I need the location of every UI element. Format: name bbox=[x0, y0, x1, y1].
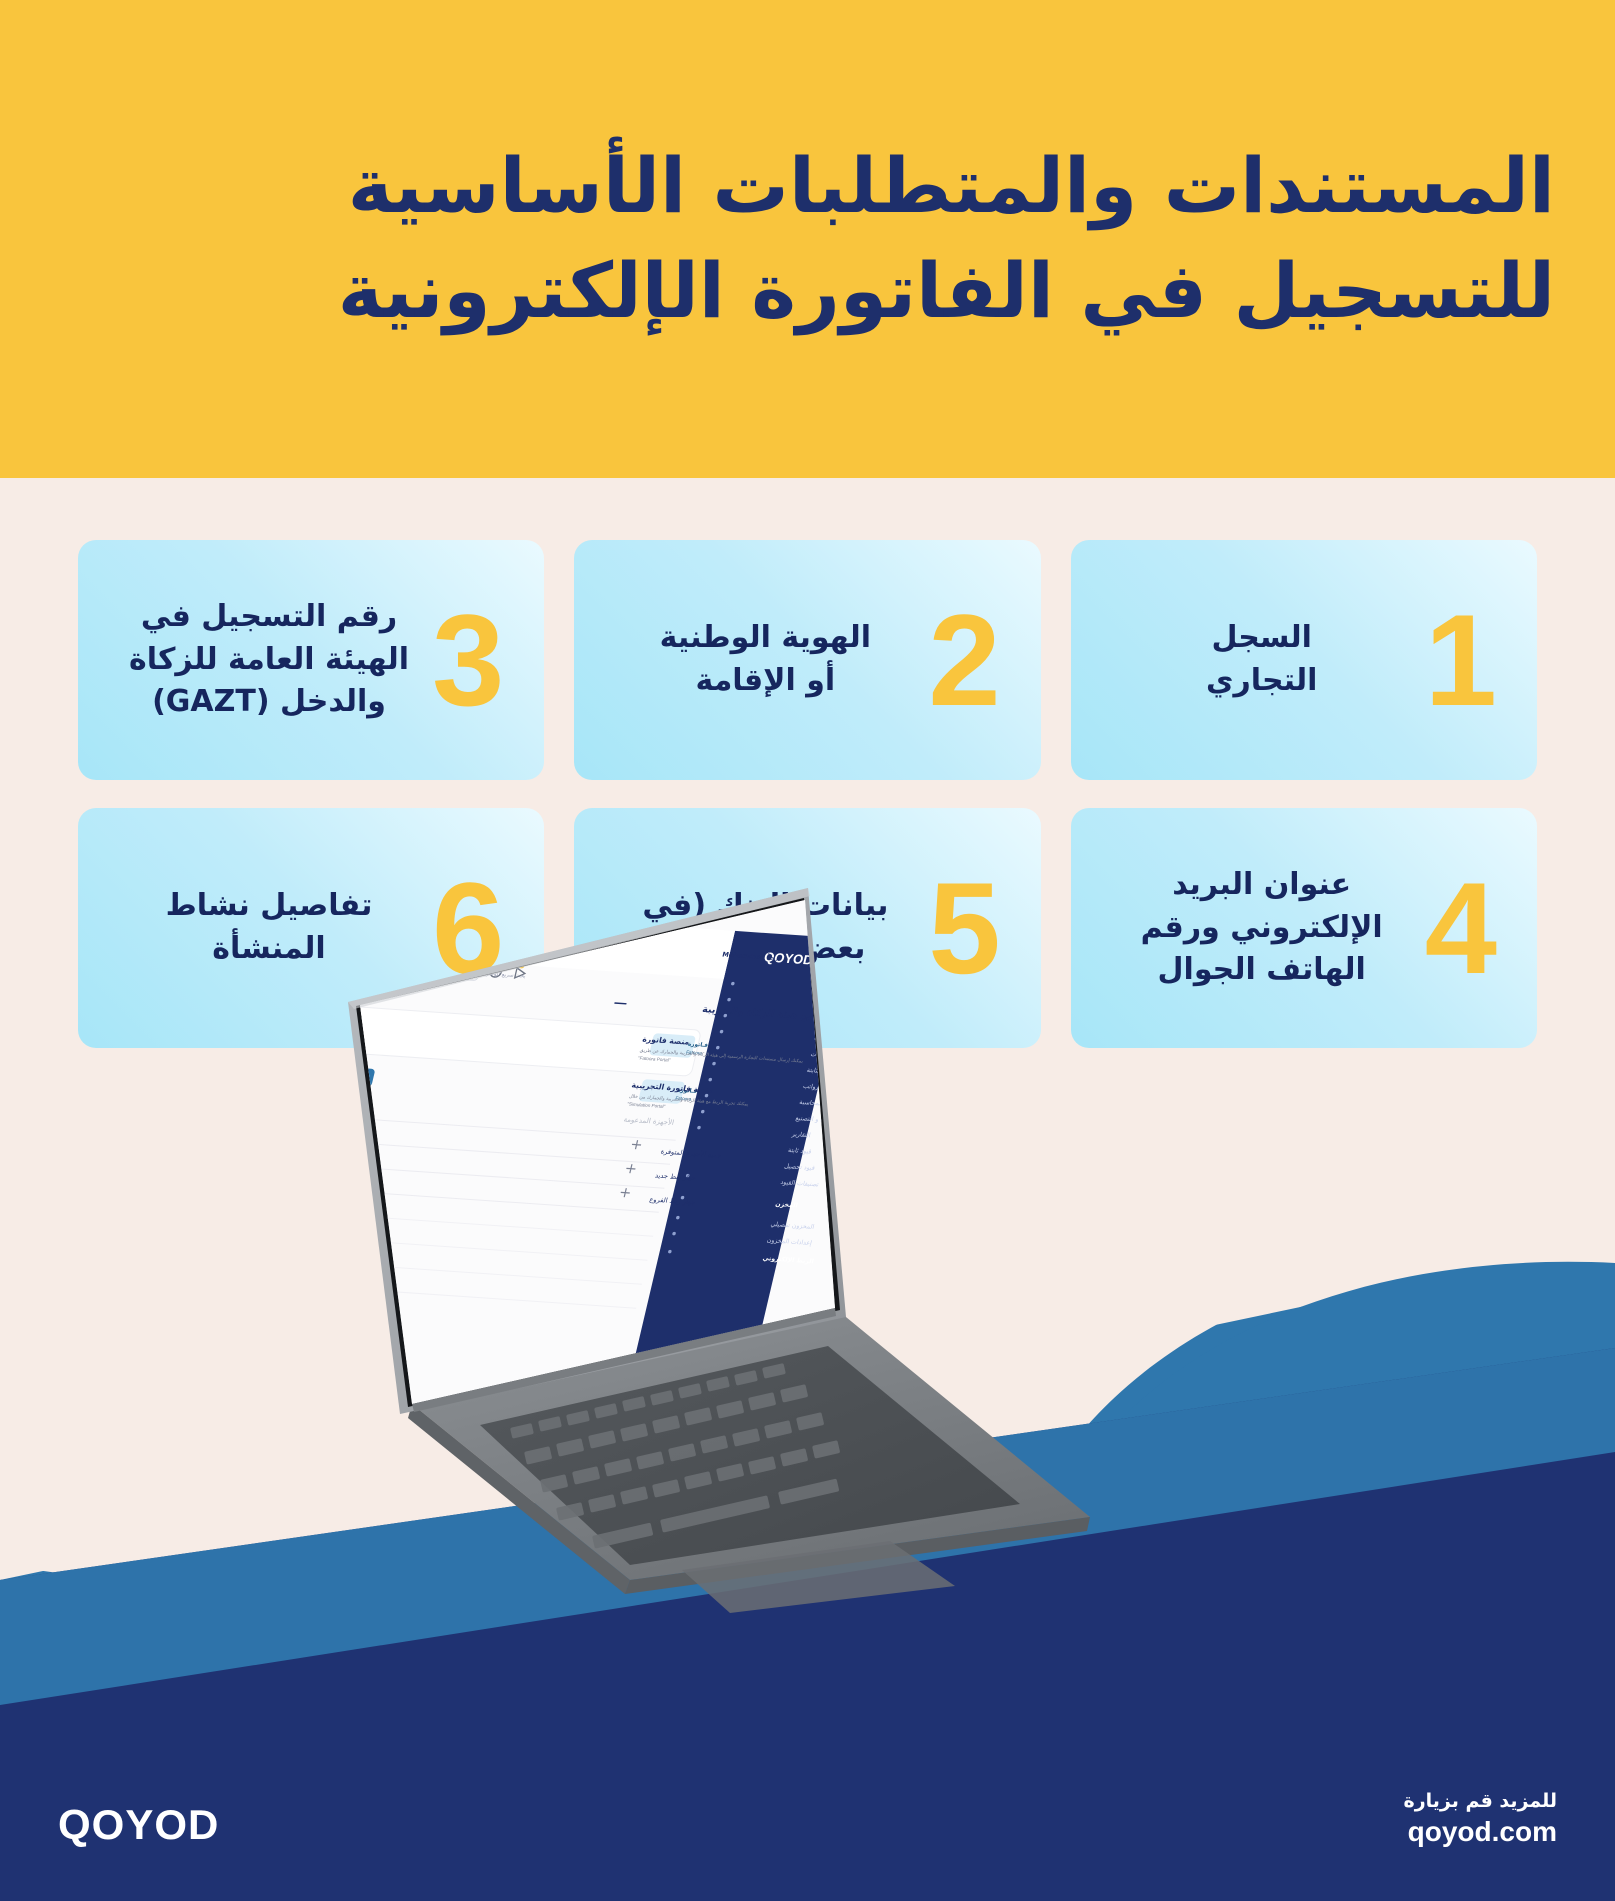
svg-text:إعدادات المخزون: إعدادات المخزون bbox=[766, 1237, 813, 1247]
svg-text:فـاتورة: فـاتورة bbox=[676, 1088, 697, 1095]
svg-text:قيود ثابتة: قيود ثابتة bbox=[787, 1147, 812, 1155]
svg-text:جميع الأجهزة المتوفرة: جميع الأجهزة المتوفرة bbox=[660, 1147, 723, 1160]
qoyod-logo: QOYOD bbox=[58, 1801, 219, 1849]
requirement-card-number: 3 bbox=[432, 595, 504, 725]
svg-text:الأصول الثابتة: الأصول الثابتة bbox=[806, 1066, 843, 1076]
page-title-line-1: المستندات والمتطلبات الأساسية bbox=[60, 134, 1555, 239]
svg-text:جهاز ربط الفروع: جهاز ربط الفروع bbox=[649, 1196, 697, 1207]
requirement-card-number: 6 bbox=[432, 863, 504, 993]
requirement-card-text: السجلالتجاري bbox=[1089, 617, 1425, 702]
requirement-card-3: 3رقم التسجيل فيالهيئة العامة للزكاةوالدخ… bbox=[78, 540, 544, 780]
requirement-card-5: 5بيانات البنك (فيبعض الحالات) bbox=[574, 808, 1040, 1048]
infographic-page: المستندات والمتطلبات الأساسية للتسجيل في… bbox=[0, 0, 1615, 1901]
requirement-card-number: 4 bbox=[1425, 863, 1497, 993]
footer-visit-block: للمزيد قم بزيارة qoyod.com bbox=[1403, 1790, 1557, 1849]
page-title: المستندات والمتطلبات الأساسية للتسجيل في… bbox=[60, 134, 1555, 344]
requirement-card-6: 6تفاصيل نشاطالمنشأة bbox=[78, 808, 544, 1048]
requirement-card-text: تفاصيل نشاطالمنشأة bbox=[96, 885, 432, 970]
svg-text:جهاز ربط جديد: جهاز ربط جديد bbox=[654, 1172, 696, 1183]
requirement-card-number: 1 bbox=[1425, 595, 1497, 725]
requirement-card-text: عنوان البريدالإلكتروني ورقمالهاتف الجوال bbox=[1089, 864, 1425, 992]
svg-text:يمكنك إرسال مستندات التجارة ال: يمكنك إرسال مستندات التجارة الرسمية إلى … bbox=[639, 1048, 804, 1065]
footer-visit-label: للمزيد قم بزيارة bbox=[1403, 1790, 1557, 1814]
requirement-card-text: رقم التسجيل فيالهيئة العامة للزكاةوالدخل… bbox=[96, 596, 432, 724]
svg-text:تصنيفات القيود: تصنيفات القيود bbox=[780, 1179, 820, 1189]
svg-text:يمكنك تجربة الربط مع هيئة الزك: يمكنك تجربة الربط مع هيئة الزكاة والضريب… bbox=[628, 1094, 749, 1108]
svg-text:ابدأ الربط: ابدأ الربط bbox=[333, 1101, 357, 1110]
qoyod-logo-text: QOYOD bbox=[58, 1801, 219, 1848]
svg-text:الشراء و التصنيع: الشراء و التصنيع bbox=[795, 1115, 839, 1125]
svg-text:"Fatoora Portal": "Fatoora Portal" bbox=[638, 1056, 672, 1063]
svg-text:Fatoora: Fatoora bbox=[675, 1096, 692, 1102]
requirements-card-grid: 1السجلالتجاري2الهوية الوطنيةأو الإقامة3ر… bbox=[0, 540, 1615, 1048]
requirement-card-2: 2الهوية الوطنيةأو الإقامة bbox=[574, 540, 1040, 780]
requirement-card-text: بيانات البنك (فيبعض الحالات) bbox=[592, 885, 928, 970]
svg-text:المحاسبة: المحاسبة bbox=[799, 1099, 824, 1108]
svg-text:المخزون تفصيلي: المخزون تفصيلي bbox=[770, 1221, 815, 1231]
requirement-card-1: 1السجلالتجاري bbox=[1071, 540, 1537, 780]
svg-text:التقارير: التقارير bbox=[790, 1131, 811, 1139]
svg-text:المنتجات والخدمات: المنتجات والخدمات bbox=[810, 1051, 861, 1061]
svg-text:الربط الإلكتروني: الربط الإلكتروني bbox=[762, 1255, 814, 1265]
svg-text:قيود تحصيل: قيود تحصيل bbox=[784, 1163, 816, 1172]
svg-text:منصة فاتورة التجريبية: منصة فاتورة التجريبية bbox=[631, 1081, 715, 1095]
requirement-card-number: 5 bbox=[928, 863, 1000, 993]
svg-text:Fatoora: Fatoora bbox=[686, 1050, 703, 1056]
svg-text:المخزن: المخزن bbox=[775, 1201, 799, 1209]
requirement-card-4: 4عنوان البريدالإلكتروني ورقمالهاتف الجوا… bbox=[1071, 808, 1537, 1048]
requirement-card-number: 2 bbox=[928, 595, 1000, 725]
svg-text:الرواتب: الرواتب bbox=[802, 1083, 823, 1091]
requirement-card-text: الهوية الوطنيةأو الإقامة bbox=[592, 617, 928, 702]
footer-url[interactable]: qoyod.com bbox=[1403, 1814, 1557, 1849]
svg-text:"Simulation Portal": "Simulation Portal" bbox=[627, 1102, 666, 1110]
svg-text:ابدأ الربط: ابدأ الربط bbox=[339, 1073, 363, 1082]
svg-text:الأجهزة المدعومة: الأجهزة المدعومة bbox=[623, 1115, 675, 1127]
header-banner: المستندات والمتطلبات الأساسية للتسجيل في… bbox=[0, 0, 1615, 478]
page-title-line-2: للتسجيل في الفاتورة الإلكترونية bbox=[60, 239, 1555, 344]
footer: للمزيد قم بزيارة qoyod.com QOYOD bbox=[0, 1601, 1615, 1901]
